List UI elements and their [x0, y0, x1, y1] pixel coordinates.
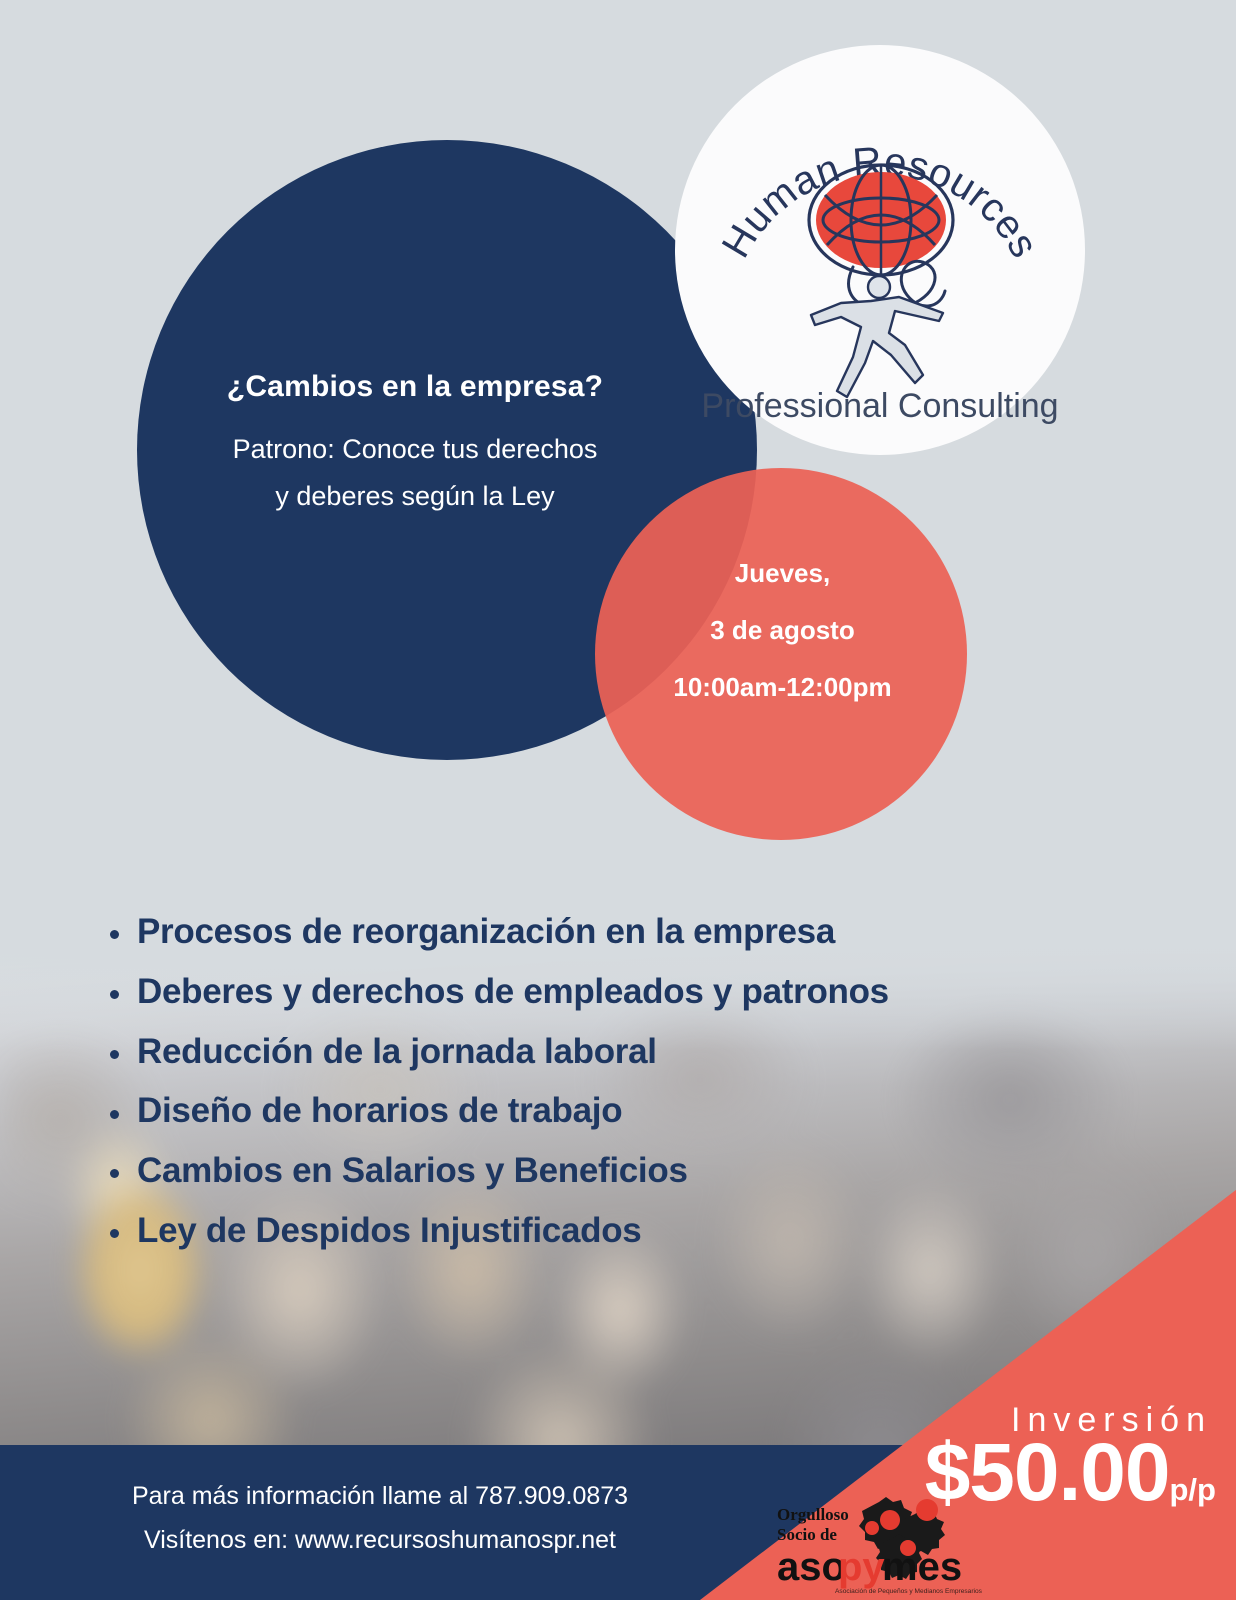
list-item: Deberes y derechos de empleados y patron… — [110, 970, 1180, 1014]
list-item: Ley de Despidos Injustificados — [110, 1209, 1180, 1253]
headline-line-2: Patrono: Conoce tus derechos — [150, 426, 680, 473]
topic-label: Deberes y derechos de empleados y patron… — [137, 970, 889, 1014]
event-day: Jueves, — [610, 545, 955, 602]
bullet-dot-icon — [110, 930, 119, 939]
price-unit: p/p — [1170, 1474, 1217, 1512]
topic-label: Reducción de la jornada laboral — [137, 1030, 657, 1074]
bullet-dot-icon — [110, 1229, 119, 1238]
globe-icon — [809, 165, 953, 275]
list-item: Reducción de la jornada laboral — [110, 1030, 1180, 1074]
topic-label: Procesos de reorganización en la empresa — [137, 910, 835, 954]
event-time: 10:00am-12:00pm — [610, 659, 955, 716]
partner-pre-line-1: Orgulloso — [777, 1505, 849, 1524]
event-date: 3 de agosto — [610, 602, 955, 659]
list-item: Cambios en Salarios y Beneficios — [110, 1149, 1180, 1193]
bullet-dot-icon — [110, 1110, 119, 1119]
event-date-block: Jueves, 3 de agosto 10:00am-12:00pm — [610, 545, 955, 717]
bullet-dot-icon — [110, 1050, 119, 1059]
headline-line-3: y deberes según la Ley — [150, 473, 680, 520]
list-item: Procesos de reorganización en la empresa — [110, 910, 1180, 954]
bullet-dot-icon — [110, 1169, 119, 1178]
asopymes-partner-logo: Orgulloso Socio de aso py mes Asociación… — [775, 1480, 1005, 1598]
footer-contact-block: Para más información llame al 787.909.08… — [0, 1445, 760, 1600]
hr-professional-consulting-logo: Human Resources Professional Consulting — [675, 45, 1085, 455]
headline-block: ¿Cambios en la empresa? Patrono: Conoce … — [150, 370, 680, 521]
topic-label: Diseño de horarios de trabajo — [137, 1089, 622, 1133]
footer-phone-line: Para más información llame al 787.909.08… — [132, 1475, 628, 1519]
partner-tagline: Asociación de Pequeños y Medianos Empres… — [835, 1588, 983, 1595]
partner-name-part-2: py — [838, 1545, 885, 1589]
flyer-canvas: ¿Cambios en la empresa? Patrono: Conoce … — [0, 0, 1236, 1600]
topics-list: Procesos de reorganización en la empresa… — [110, 910, 1180, 1269]
partner-pre-line-2: Socio de — [777, 1525, 837, 1544]
topic-label: Ley de Despidos Injustificados — [137, 1209, 641, 1253]
logo-bottom-text: Professional Consulting — [701, 387, 1058, 425]
footer-website-line[interactable]: Visítenos en: www.recursoshumanospr.net — [144, 1519, 616, 1563]
runner-figure — [811, 276, 943, 397]
list-item: Diseño de horarios de trabajo — [110, 1089, 1180, 1133]
partner-name-part-3: mes — [882, 1545, 962, 1589]
headline-line-1: ¿Cambios en la empresa? — [150, 370, 680, 404]
bullet-dot-icon — [110, 990, 119, 999]
topic-label: Cambios en Salarios y Beneficios — [137, 1149, 688, 1193]
partner-name-part-1: aso — [777, 1545, 846, 1589]
